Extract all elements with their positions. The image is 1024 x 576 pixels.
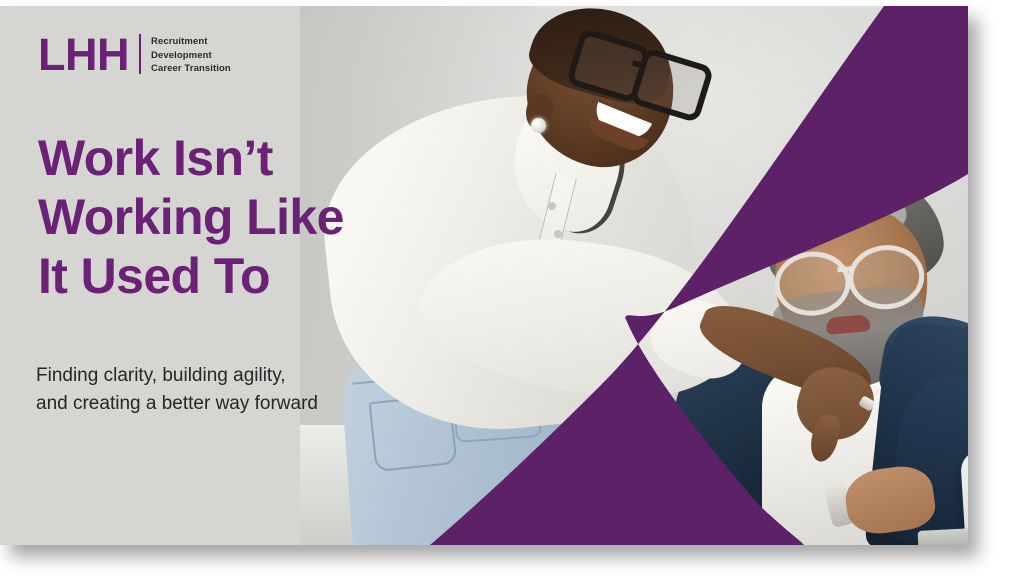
headline-line-3: It Used To (38, 247, 418, 306)
slide-text-panel: LHH Recruitment Development Career Trans… (0, 6, 430, 545)
logo-tagline-line-3: Career Transition (151, 63, 231, 76)
presentation-slide: LHH Recruitment Development Career Trans… (0, 6, 968, 545)
lhh-wordmark: LHH (38, 32, 129, 78)
lhh-logo: LHH Recruitment Development Career Trans… (38, 32, 231, 78)
subheadline-line-1: Finding clarity, building agility, (36, 362, 436, 390)
slide-headline: Work Isn’t Working Like It Used To (38, 129, 418, 306)
logo-tagline-line-1: Recruitment (151, 36, 231, 49)
shirt-button (548, 202, 556, 210)
logo-tagline-line-2: Development (151, 50, 231, 63)
headline-line-2: Working Like (38, 188, 418, 247)
woman-earring (531, 118, 546, 133)
headline-line-1: Work Isn’t (38, 129, 418, 188)
subheadline-line-2: and creating a better way forward (36, 390, 436, 418)
logo-tagline: Recruitment Development Career Transitio… (151, 32, 231, 78)
logo-divider-rule (139, 34, 141, 74)
slide-subheadline: Finding clarity, building agility, and c… (36, 362, 436, 417)
page-root: LHH Recruitment Development Career Trans… (0, 0, 1024, 576)
shirt-button (554, 230, 562, 238)
